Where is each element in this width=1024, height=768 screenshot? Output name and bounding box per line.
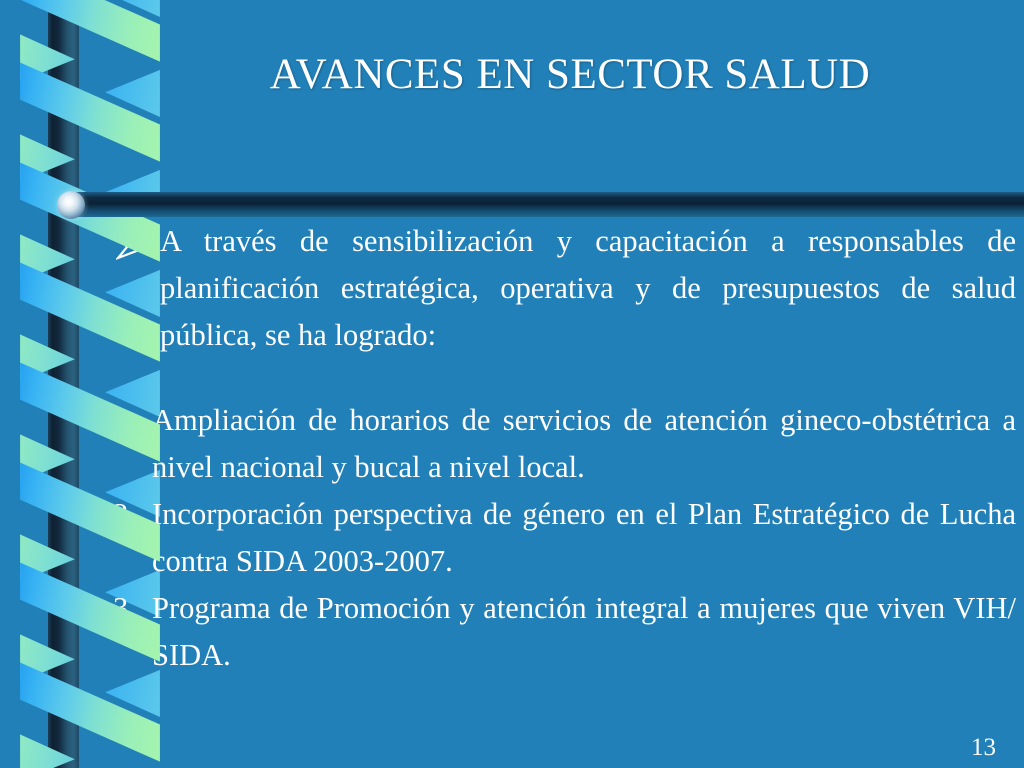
title-area: AVANCES EN SECTOR SALUD [130, 52, 1010, 98]
list-item-marker: 3. [104, 585, 152, 632]
list-item-text: Ampliación de horarios de servicios de a… [152, 397, 1020, 491]
list-item-marker: 2. [104, 491, 152, 538]
arrowhead-bullet-icon [104, 218, 160, 260]
list-item: 1.Ampliación de horarios de servicios de… [104, 397, 1020, 491]
list-item-text: Incorporación perspectiva de género en e… [152, 491, 1020, 585]
list-item: 3.Programa de Promoción y atención integ… [104, 585, 1020, 679]
page-title: AVANCES EN SECTOR SALUD [130, 52, 1010, 98]
lead-bullet-text: A través de sensibilización y capacitaci… [160, 218, 1020, 359]
lead-bullet-paragraph: A través de sensibilización y capacitaci… [104, 218, 1020, 359]
list-item: 2.Incorporación perspectiva de género en… [104, 491, 1020, 585]
horizontal-divider-bar [70, 192, 1024, 217]
list-item-marker: 1. [104, 397, 152, 444]
list-item-text: Programa de Promoción y atención integra… [152, 585, 1020, 679]
page-number: 13 [971, 735, 996, 760]
presentation-slide: AVANCES EN SECTOR SALUD A través de sens… [0, 0, 1024, 768]
numbered-list: 1.Ampliación de horarios de servicios de… [104, 397, 1020, 679]
vertical-pole [48, 0, 79, 768]
glossy-highlight-ball [57, 191, 85, 219]
slide-content: A través de sensibilización y capacitaci… [104, 218, 1020, 679]
